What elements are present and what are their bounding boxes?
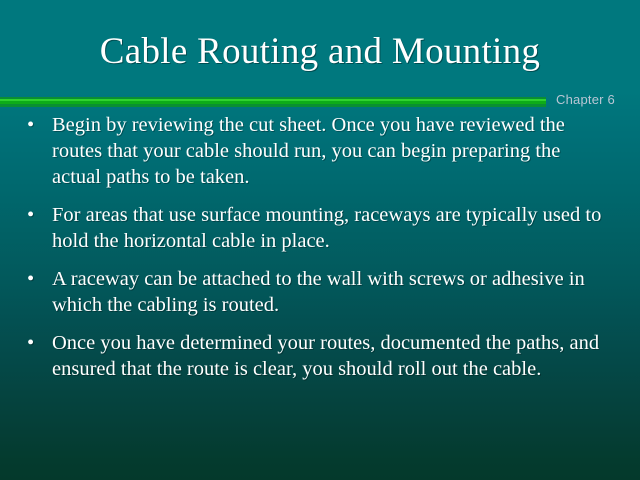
- list-item-text: A raceway can be attached to the wall wi…: [52, 266, 612, 318]
- slide-title-area: Cable Routing and Mounting: [0, 0, 640, 98]
- chapter-label: Chapter 6: [556, 92, 615, 107]
- list-item-text: For areas that use surface mounting, rac…: [52, 202, 612, 254]
- list-item-text: Once you have determined your routes, do…: [52, 330, 612, 382]
- presentation-slide: Cable Routing and Mounting Chapter 6 • B…: [0, 0, 640, 480]
- bullet-marker-icon: •: [27, 266, 41, 292]
- page-title: Cable Routing and Mounting: [0, 30, 640, 74]
- bullet-marker-icon: •: [27, 112, 41, 138]
- bullet-marker-icon: •: [27, 202, 41, 228]
- list-item: • For areas that use surface mounting, r…: [0, 202, 640, 254]
- list-item-text: Begin by reviewing the cut sheet. Once y…: [52, 112, 612, 190]
- list-item: • Begin by reviewing the cut sheet. Once…: [0, 112, 640, 190]
- list-item: • Once you have determined your routes, …: [0, 330, 640, 382]
- list-item: • A raceway can be attached to the wall …: [0, 266, 640, 318]
- bullet-list: • Begin by reviewing the cut sheet. Once…: [0, 112, 640, 394]
- divider-band-dark-bottom: [0, 104, 546, 107]
- bullet-marker-icon: •: [27, 330, 41, 356]
- title-divider-bar: [0, 97, 546, 107]
